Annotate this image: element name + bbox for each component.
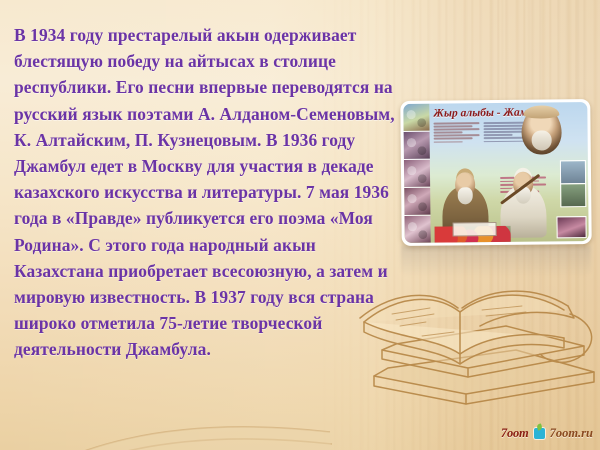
jambyl-portrait bbox=[521, 106, 562, 154]
text-line bbox=[484, 137, 523, 139]
presentation-slide: В 1934 году престарелый акын одерживает … bbox=[0, 0, 600, 450]
photo-thumbnail bbox=[404, 160, 430, 188]
paragraph: В 1934 году престарелый акын одерживает … bbox=[14, 22, 396, 363]
text-line bbox=[433, 122, 479, 124]
monument-photo bbox=[560, 183, 586, 207]
hat-shape bbox=[523, 105, 559, 118]
beard-shape bbox=[458, 187, 473, 204]
monument-photo bbox=[560, 160, 586, 184]
archive-photo bbox=[556, 216, 586, 238]
photo-thumbnail bbox=[404, 132, 430, 160]
beard-shape bbox=[532, 130, 552, 150]
slide-body-text: В 1934 году престарелый акын одерживает … bbox=[14, 22, 396, 363]
photo-thumbnail bbox=[403, 104, 429, 132]
watermark-brand: 7oom bbox=[501, 426, 529, 441]
text-line bbox=[484, 134, 513, 136]
collage-reflection bbox=[401, 246, 591, 276]
text-line bbox=[434, 128, 480, 130]
text-line bbox=[434, 138, 473, 140]
poster-collage-image[interactable]: Жыр алыбы - Жамбыл bbox=[400, 99, 592, 246]
text-line bbox=[434, 135, 480, 137]
photo-thumbnail bbox=[404, 188, 430, 216]
text-line bbox=[434, 125, 473, 127]
collage-text-columns bbox=[433, 122, 530, 175]
text-column bbox=[433, 122, 480, 174]
photo-strip bbox=[403, 104, 430, 243]
watermark[interactable]: 7oom 7oom.ru bbox=[501, 425, 593, 442]
text-line bbox=[434, 132, 463, 134]
collage-inner: Жыр алыбы - Жамбыл bbox=[403, 102, 588, 243]
watermark-url: 7oom.ru bbox=[550, 426, 593, 441]
text-line bbox=[434, 141, 463, 143]
watermark-logo-icon bbox=[534, 428, 545, 439]
photo-thumbnail bbox=[404, 216, 430, 243]
text-line bbox=[484, 125, 523, 127]
collage-caption bbox=[453, 222, 497, 236]
